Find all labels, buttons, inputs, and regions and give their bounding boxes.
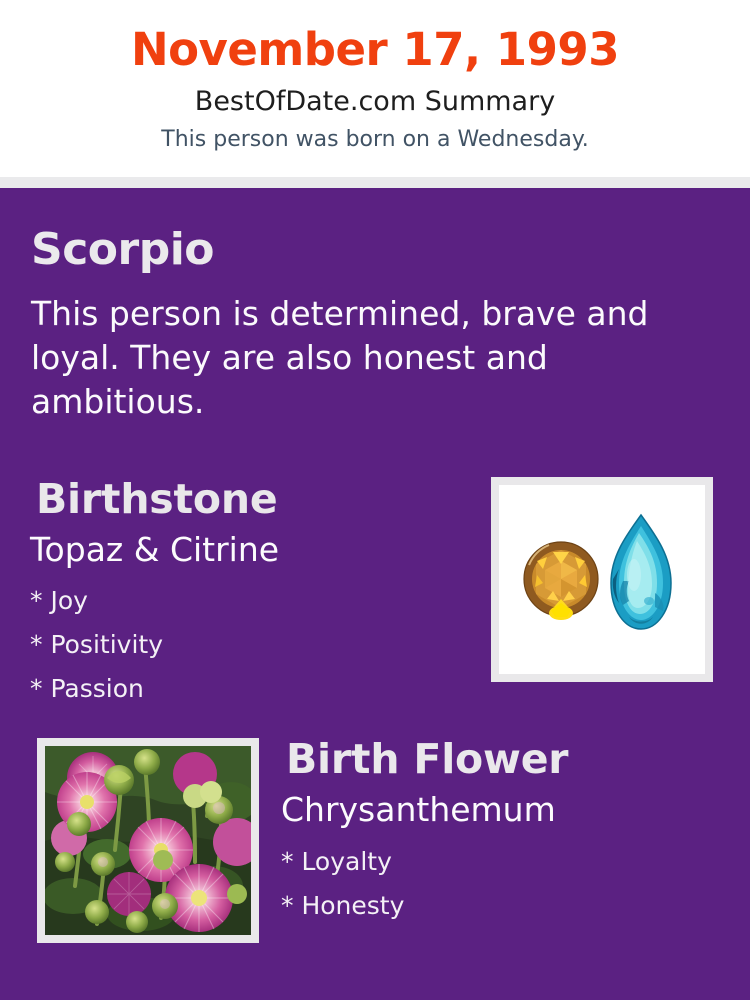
header-divider	[0, 177, 750, 188]
birthstone-heading: Birthstone	[36, 475, 277, 523]
birthflower-trait-list: * Loyalty * Honesty	[281, 840, 701, 928]
site-name: BestOfDate.com Summary	[0, 85, 750, 119]
birthstone-name: Topaz & Citrine	[30, 529, 279, 571]
birthflower-name: Chrysanthemum	[281, 789, 556, 831]
chrysanthemum-flowers-icon	[45, 746, 251, 935]
list-item: * Passion	[30, 667, 460, 711]
list-item: * Positivity	[30, 623, 460, 667]
weekday-line: This person was born on a Wednesday.	[0, 126, 750, 154]
birthflower-photo	[45, 746, 251, 935]
content-panel: Scorpio This person is determined, brave…	[0, 188, 750, 1000]
header: November 17, 1993 BestOfDate.com Summary…	[0, 0, 750, 177]
list-item: * Loyalty	[281, 840, 701, 884]
list-item: * Joy	[30, 579, 460, 623]
gemstones-icon	[499, 485, 705, 674]
birthstone-trait-list: * Joy * Positivity * Passion	[30, 579, 460, 711]
zodiac-sign-heading: Scorpio	[31, 224, 214, 276]
zodiac-description: This person is determined, brave and loy…	[31, 292, 699, 424]
birthflower-image-frame	[37, 738, 259, 943]
page-title-date: November 17, 1993	[0, 22, 750, 78]
summary-card: November 17, 1993 BestOfDate.com Summary…	[0, 0, 750, 1000]
birthflower-heading: Birth Flower	[286, 735, 568, 783]
list-item: * Honesty	[281, 884, 701, 928]
birthstone-photo	[499, 485, 705, 674]
birthstone-image-frame	[491, 477, 713, 682]
